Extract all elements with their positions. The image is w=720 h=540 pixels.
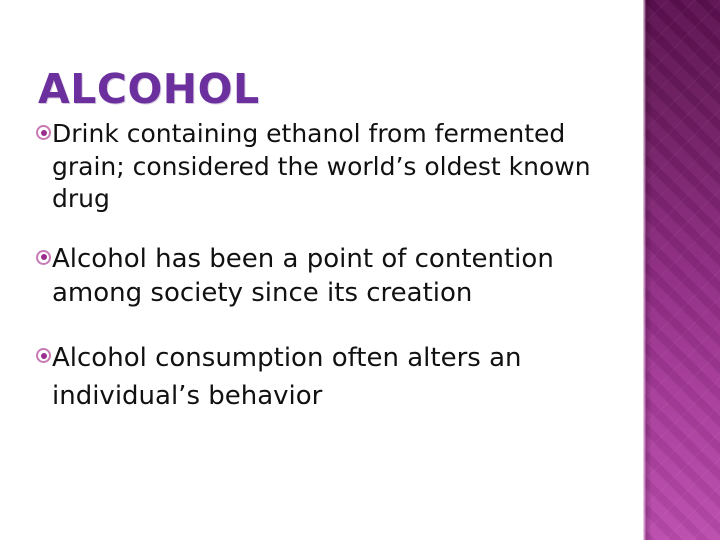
bullet-item-text: Drink containing ethanol from fermented … [52, 118, 634, 216]
ring-dot-bullet-icon [36, 348, 51, 363]
sidebar-left-edge-highlight [643, 0, 646, 540]
ring-dot-bullet-icon [36, 125, 51, 140]
slide-body-bullet-list: Drink containing ethanol from fermented … [36, 118, 634, 416]
bullet-item-text: Alcohol has been a point of contention a… [52, 242, 634, 311]
bullet-list-item: Drink containing ethanol from fermented … [36, 118, 634, 216]
decorative-sidebar-band [643, 0, 720, 540]
bullet-item-text: Alcohol consumption often alters an indi… [52, 340, 634, 415]
ring-dot-bullet-icon [36, 250, 51, 265]
bullet-list-item: Alcohol has been a point of contention a… [36, 242, 634, 311]
slide-title: Alcohol [38, 67, 260, 111]
bullet-list-item: Alcohol consumption often alters an indi… [36, 340, 634, 415]
presentation-slide: Alcohol Drink containing ethanol from fe… [0, 0, 720, 540]
